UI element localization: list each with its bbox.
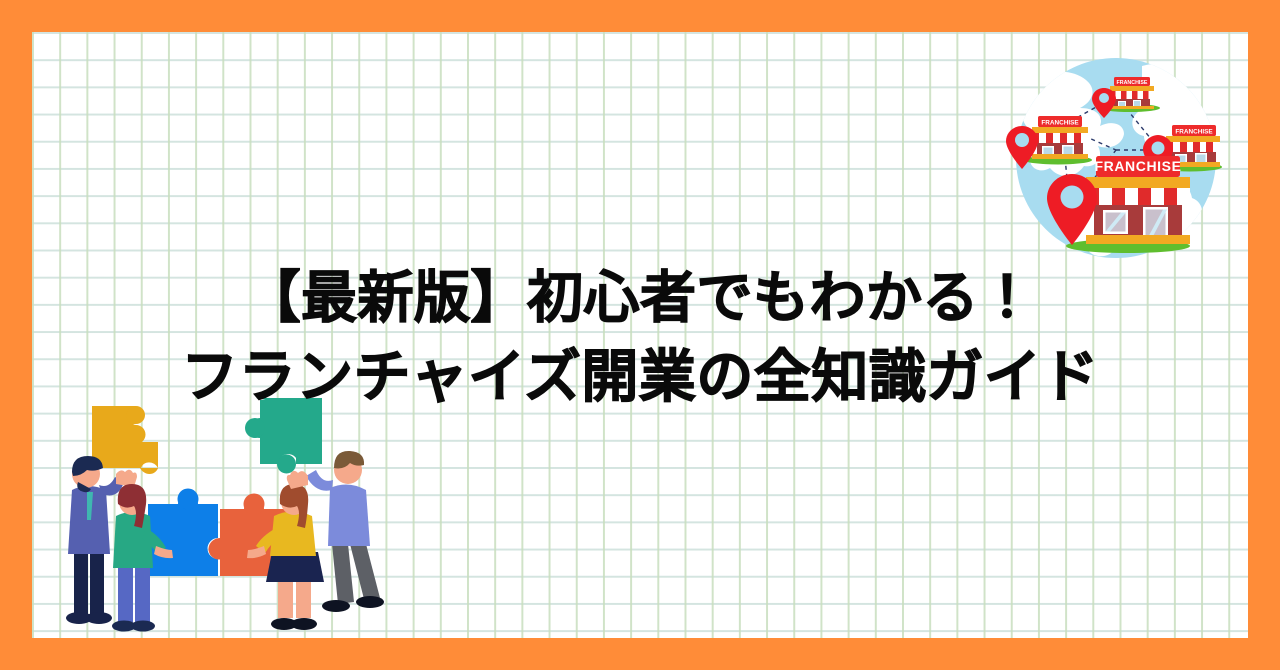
franchise-network-globe-illustration: FRANCHISE	[1000, 50, 1230, 270]
eyecatch-canvas: FRANCHISE	[0, 0, 1280, 670]
franchise-sign-text: FRANCHISE	[1094, 158, 1181, 174]
svg-text:FRANCHISE: FRANCHISE	[1117, 80, 1148, 86]
page-title: 【最新版】初心者でもわかる！ フランチャイズ開業の全知識ガイド	[32, 260, 1248, 416]
awning-stripes-small-left	[1032, 133, 1088, 143]
team-puzzle-illustration	[56, 394, 396, 638]
svg-text:FRANCHISE: FRANCHISE	[1041, 120, 1079, 127]
title-line-2: フランチャイズ開業の全知識ガイド	[32, 338, 1248, 416]
awning-stripes-small-right	[1166, 142, 1220, 152]
grid-paper-panel: FRANCHISE	[32, 32, 1248, 638]
franchise-store-small-left: FRANCHISE	[1006, 116, 1092, 169]
title-line-1: 【最新版】初心者でもわかる！	[32, 260, 1248, 338]
awning-stripes-tiny	[1110, 91, 1154, 99]
svg-text:FRANCHISE: FRANCHISE	[1175, 129, 1213, 136]
blue-puzzle-piece	[148, 489, 218, 577]
